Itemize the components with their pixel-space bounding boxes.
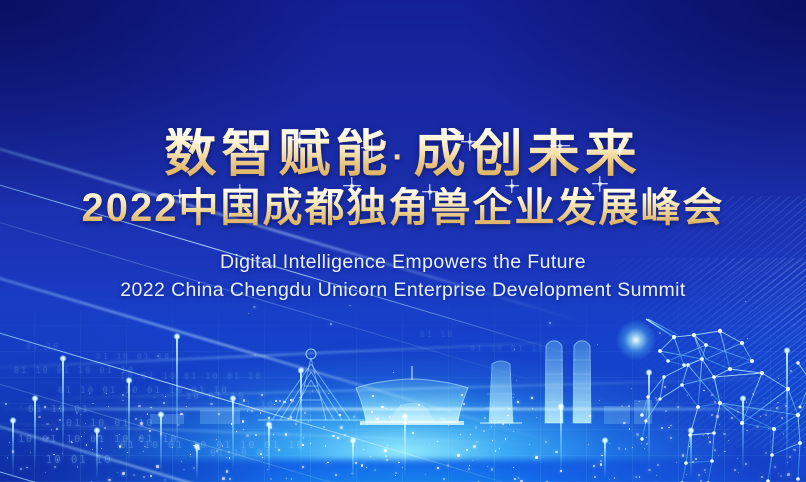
diagonal-light-rays (0, 77, 597, 482)
light-ray (0, 400, 501, 482)
particle (340, 426, 343, 429)
main-title-part2: 成创未来 (414, 125, 642, 183)
particle (774, 466, 775, 467)
title-sparkle-icon (324, 190, 336, 202)
particle (216, 439, 217, 440)
horizon-line (0, 408, 806, 410)
particle (513, 397, 514, 398)
particle (628, 405, 631, 408)
particle (157, 355, 159, 357)
particle (786, 456, 788, 458)
particle (495, 450, 497, 452)
particle (261, 394, 263, 396)
particle (71, 441, 73, 443)
light-pillar (96, 430, 98, 480)
particle (92, 449, 93, 450)
particle (604, 447, 606, 449)
particle (386, 459, 388, 461)
particle (366, 467, 368, 469)
particle (761, 476, 763, 478)
particle (516, 380, 517, 381)
particle (325, 445, 326, 446)
particle (532, 408, 533, 409)
particle (156, 465, 159, 468)
particle (361, 464, 363, 466)
particle (609, 443, 610, 444)
particle (193, 445, 195, 447)
particle (81, 436, 82, 437)
particle (508, 408, 509, 409)
particle (589, 415, 591, 417)
particle (355, 462, 357, 464)
particle (84, 432, 85, 433)
particle (644, 448, 645, 449)
particle (778, 473, 779, 474)
binary-stream: 01 10 01 (210, 448, 272, 459)
curved-roof-pavilion (356, 366, 468, 425)
particle (737, 458, 738, 459)
particle (186, 406, 187, 407)
particle (790, 370, 792, 372)
perspective-ground-grid (0, 292, 806, 482)
particle (198, 448, 200, 450)
particle (395, 472, 397, 474)
particle (447, 464, 449, 466)
particle (254, 354, 256, 356)
particle (621, 405, 623, 407)
particle (448, 425, 449, 426)
particle (507, 415, 508, 416)
particle (499, 448, 500, 449)
chengdu-skyline-silhouette (0, 324, 806, 444)
particle (492, 440, 493, 441)
particle (57, 459, 59, 461)
particle (122, 400, 124, 402)
particle (376, 418, 379, 421)
particle (222, 445, 224, 447)
particle (243, 429, 244, 430)
particle (38, 416, 41, 419)
particle (251, 410, 253, 412)
particle (141, 441, 142, 442)
particle (618, 447, 621, 450)
particle (787, 462, 788, 463)
particle (725, 451, 726, 452)
light-pillar (12, 420, 14, 476)
particle (181, 461, 183, 463)
particle (703, 390, 705, 392)
title-sparkle-icon (249, 143, 263, 157)
particle (45, 472, 46, 473)
particle (165, 396, 166, 397)
particle (247, 410, 249, 412)
particle (140, 437, 141, 438)
particle (659, 332, 661, 334)
particle (226, 470, 228, 472)
particle (278, 449, 279, 450)
particle (677, 406, 679, 408)
particle (101, 448, 102, 449)
particle-sparkle-field (0, 0, 806, 482)
particle (12, 450, 14, 452)
particle (728, 440, 729, 441)
particle (645, 422, 647, 424)
particle (460, 434, 461, 435)
particle (98, 435, 100, 437)
particle (588, 444, 590, 446)
particle (687, 395, 689, 397)
particle (708, 437, 710, 439)
diagonal-hatch-panel (616, 258, 806, 448)
particle (229, 457, 230, 458)
particle (236, 431, 237, 432)
particle (228, 451, 230, 453)
particle (273, 434, 274, 435)
particle (53, 454, 55, 456)
particle (44, 406, 46, 408)
particle (785, 405, 787, 407)
particle (279, 400, 281, 402)
binary-stream: 01 10 01 10 01 10 (300, 414, 426, 424)
particle (310, 443, 311, 444)
particle (535, 456, 538, 459)
particle (656, 399, 658, 401)
english-line-2: 2022 China Chengdu Unicorn Enterprise De… (0, 279, 806, 302)
particle (311, 427, 312, 428)
particle (20, 406, 21, 407)
particle (143, 476, 145, 478)
particle (555, 451, 557, 453)
particle (695, 458, 697, 460)
particle (655, 397, 657, 399)
particle (714, 401, 716, 403)
particle (505, 438, 507, 440)
particle (344, 434, 346, 436)
particle (323, 426, 325, 428)
particle (267, 469, 268, 470)
particle (222, 477, 225, 480)
particle (144, 446, 146, 448)
light-ray (0, 443, 489, 482)
particle (335, 474, 337, 476)
particle (778, 378, 779, 379)
binary-stream: 10 01 10 01 10 01 10 (120, 372, 262, 382)
particle (104, 427, 106, 429)
particle (780, 475, 782, 477)
particle (283, 401, 286, 404)
particle (670, 425, 672, 427)
particle (400, 405, 401, 406)
particle (600, 460, 602, 462)
particle (705, 472, 706, 473)
particle (135, 418, 137, 420)
particle (154, 397, 155, 398)
particle (360, 423, 362, 425)
particle (531, 397, 533, 399)
particle (312, 390, 314, 392)
particle (429, 444, 430, 445)
binary-stream: 01 10 01 10 01 10 (14, 366, 135, 376)
particle (286, 478, 287, 479)
particle (26, 467, 28, 469)
particle (93, 403, 94, 404)
light-ray (0, 358, 514, 482)
title-sparkle-icon (461, 133, 479, 151)
particle (117, 472, 118, 473)
particle (183, 469, 185, 471)
particle (291, 478, 292, 479)
title-sparkle-icon (343, 177, 361, 195)
particle (714, 450, 716, 452)
particle (711, 414, 713, 416)
binary-stream: 01 10 (238, 400, 275, 410)
particle (709, 441, 711, 443)
particle (711, 394, 713, 396)
particle (469, 465, 470, 466)
particle (76, 412, 79, 415)
particle (151, 444, 152, 445)
particle (560, 470, 563, 473)
low-building-blocks (150, 400, 652, 424)
particle (737, 411, 739, 413)
particle (255, 434, 257, 436)
title-sparkle-icon (292, 132, 308, 148)
particle (587, 395, 588, 396)
particle (641, 443, 642, 444)
light-pillar (648, 372, 650, 468)
particle (657, 464, 659, 466)
particle (363, 449, 364, 450)
particle (164, 479, 166, 481)
particle (609, 479, 610, 480)
particle (354, 445, 355, 446)
particle (190, 454, 191, 455)
particle (491, 426, 493, 428)
particle (243, 399, 246, 402)
particle (270, 426, 273, 429)
particle (437, 441, 438, 442)
particle (190, 456, 191, 457)
binary-stream: 01 10 (26, 342, 60, 351)
particle (393, 372, 394, 373)
particle (133, 474, 134, 475)
particle (386, 408, 387, 409)
particle (389, 416, 392, 419)
particle (585, 420, 586, 421)
light-band-3 (0, 421, 532, 445)
particle (47, 437, 50, 440)
particle (275, 400, 278, 403)
binary-stream: 01 10 (420, 330, 454, 339)
cable-stayed-bridge-pylon (258, 349, 366, 420)
particle (682, 454, 684, 456)
particle (646, 443, 649, 446)
particle (108, 406, 109, 407)
particle (597, 344, 598, 345)
particle (85, 423, 86, 424)
particle (387, 445, 388, 446)
light-pillar (268, 424, 270, 478)
particle (371, 411, 373, 413)
particle (536, 417, 537, 418)
particle (747, 338, 749, 340)
binary-stream: 01 10 01 10 (96, 352, 171, 361)
particle (517, 401, 519, 403)
light-pillar (62, 358, 64, 462)
particle (746, 430, 748, 432)
light-ray (0, 222, 554, 444)
particle (302, 466, 304, 468)
particle (108, 479, 111, 482)
particle (629, 428, 631, 430)
particle (138, 405, 141, 408)
particle (7, 457, 9, 459)
light-pillar (690, 430, 692, 478)
particle (274, 404, 275, 405)
particle (665, 410, 667, 412)
light-ray (0, 103, 589, 325)
particle (777, 402, 779, 404)
particle (262, 457, 263, 458)
light-pillar (560, 406, 562, 476)
title-sparkle-icon (550, 136, 570, 156)
light-pillar (160, 414, 162, 476)
main-title: 数智赋能·成创未来 (164, 128, 641, 180)
particle (639, 401, 640, 402)
light-ray (0, 273, 539, 482)
particle (229, 478, 231, 480)
particle (372, 395, 374, 397)
particle (502, 423, 504, 425)
particle (304, 412, 306, 414)
particle (472, 460, 473, 461)
particle (299, 397, 300, 398)
light-pillar (786, 350, 788, 470)
particle (332, 435, 335, 438)
particle (793, 449, 794, 450)
particle (385, 455, 387, 457)
particle (514, 349, 515, 350)
particle (405, 422, 407, 424)
title-sparkle-icon (234, 184, 246, 196)
tapered-tower (480, 361, 522, 423)
particle (513, 431, 514, 432)
particle (339, 414, 341, 416)
particle (716, 415, 719, 418)
title-sparkle-icon (505, 179, 519, 193)
particle (463, 403, 465, 405)
particle (248, 313, 249, 314)
particle (704, 469, 706, 471)
particle (763, 398, 765, 400)
title-sparkle-icon (422, 184, 438, 200)
particle (731, 417, 733, 419)
particle (783, 433, 785, 435)
particle (260, 412, 262, 414)
particle (668, 427, 670, 429)
particle (160, 433, 162, 435)
particle (328, 393, 329, 394)
light-pillar (128, 380, 130, 466)
particle (593, 465, 595, 467)
particle (122, 394, 124, 396)
particle (407, 409, 408, 410)
particle (150, 407, 152, 409)
particle (163, 402, 165, 404)
particle (54, 466, 56, 468)
vignette-top-left (0, 0, 806, 482)
particle (374, 469, 375, 470)
chinese-subtitle: 2022中国成都独角兽企业发展峰会 (82, 187, 725, 229)
particle (794, 449, 796, 451)
particle (623, 422, 626, 425)
particle (745, 301, 746, 302)
particle (326, 463, 327, 464)
particle (623, 422, 625, 424)
particle (143, 451, 144, 452)
particle (476, 441, 478, 443)
particle (89, 393, 90, 394)
particle (9, 442, 10, 443)
particle (370, 456, 371, 457)
particle (308, 421, 309, 422)
light-pillar (232, 398, 234, 472)
particle (787, 473, 790, 476)
particle (594, 476, 596, 478)
light-ray (0, 137, 579, 358)
particle (147, 413, 149, 415)
particle (601, 455, 602, 456)
particle (210, 403, 213, 406)
particle (656, 475, 657, 476)
particle (218, 413, 220, 415)
particle (270, 478, 272, 480)
diagonal-hatch-panel-upper (646, 196, 806, 346)
particle (444, 419, 445, 420)
light-band-2 (16, 377, 790, 401)
particle (193, 467, 195, 469)
particle (216, 450, 218, 452)
particle (59, 408, 60, 409)
particle (475, 426, 477, 428)
particle (698, 474, 700, 476)
particle (461, 394, 463, 396)
particle (443, 478, 446, 481)
vignette-bottom-left (0, 0, 806, 482)
particle (291, 399, 294, 402)
particle (77, 466, 79, 468)
particle (338, 438, 339, 439)
particle (59, 419, 61, 421)
particle (351, 473, 353, 475)
particle (353, 416, 355, 418)
particle (349, 305, 351, 307)
particle (721, 397, 722, 398)
particle (724, 451, 725, 452)
particle (337, 437, 338, 438)
particle (718, 455, 719, 456)
particle (5, 403, 8, 406)
particle (150, 475, 152, 477)
particle (545, 441, 547, 443)
light-pillar (34, 398, 36, 468)
binary-stream: 01 10 01 10 (470, 344, 545, 353)
particle (625, 448, 627, 450)
particle (760, 416, 761, 417)
light-ray (0, 171, 569, 392)
particle (119, 445, 122, 448)
particle (631, 388, 632, 389)
